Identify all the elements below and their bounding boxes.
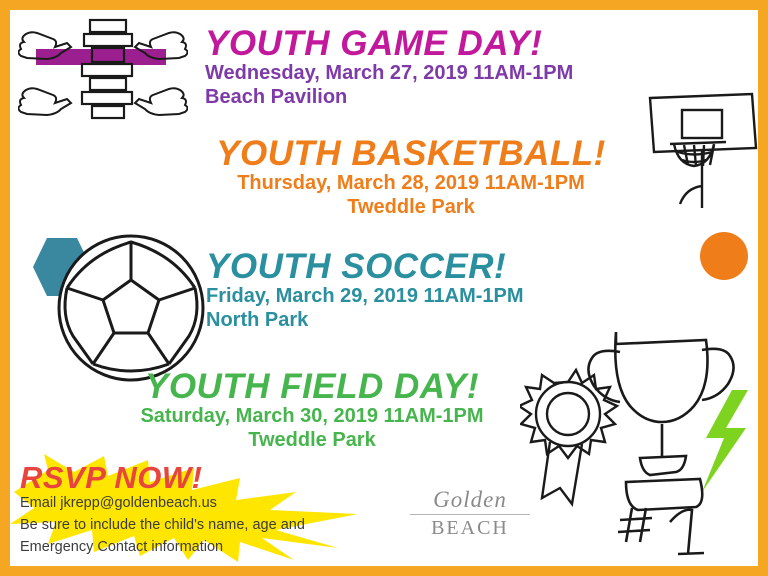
rsvp-note-line-2: Emergency Contact information	[20, 537, 340, 559]
event-date-basketball: Thursday, March 28, 2019 11AM-1PM	[176, 171, 646, 195]
logo-word-beach: BEACH	[395, 517, 545, 539]
golden-beach-logo: Golden BEACH	[395, 488, 545, 552]
number-one-icon	[618, 508, 704, 554]
event-date-gameday: Wednesday, March 27, 2019 11AM-1PM	[205, 61, 573, 85]
award-ribbon-icon	[520, 370, 617, 504]
frame-bar-top	[0, 0, 768, 10]
orange-circle-icon	[700, 232, 748, 280]
frame-bar-bottom	[0, 566, 768, 576]
event-title-basketball: YOUTH BASKETBALL!	[176, 136, 646, 171]
lightning-bolt-icon	[702, 390, 748, 492]
event-location-gameday: Beach Pavilion	[205, 85, 573, 109]
event-block-gameday: YOUTH GAME DAY! Wednesday, March 27, 201…	[205, 26, 573, 110]
event-location-soccer: North Park	[206, 308, 524, 332]
trophy-icon	[520, 332, 764, 564]
logo-word-golden: Golden	[395, 488, 545, 512]
rsvp-email-line[interactable]: Email jkrepp@goldenbeach.us	[20, 493, 340, 515]
rsvp-block: RSVP NOW! Email jkrepp@goldenbeach.us Be…	[20, 462, 340, 558]
pointing-hands-icon	[18, 14, 188, 134]
event-title-fieldday: YOUTH FIELD DAY!	[92, 369, 532, 404]
rsvp-title: RSVP NOW!	[20, 462, 340, 493]
event-title-gameday: YOUTH GAME DAY!	[205, 26, 573, 61]
basketball-hoop-icon	[640, 90, 762, 210]
event-date-soccer: Friday, March 29, 2019 11AM-1PM	[206, 284, 524, 308]
event-date-fieldday: Saturday, March 30, 2019 11AM-1PM	[92, 404, 532, 428]
event-block-fieldday: YOUTH FIELD DAY! Saturday, March 30, 201…	[92, 369, 532, 453]
soccer-ball-icon	[55, 232, 207, 384]
rsvp-note-line-1: Be sure to include the child's name, age…	[20, 515, 340, 537]
event-block-basketball: YOUTH BASKETBALL! Thursday, March 28, 20…	[176, 136, 646, 220]
event-location-basketball: Tweddle Park	[176, 195, 646, 219]
event-title-soccer: YOUTH SOCCER!	[206, 249, 524, 284]
frame-bar-left	[0, 0, 10, 576]
event-block-soccer: YOUTH SOCCER! Friday, March 29, 2019 11A…	[206, 249, 524, 333]
event-location-fieldday: Tweddle Park	[92, 428, 532, 452]
logo-divider	[410, 514, 530, 515]
